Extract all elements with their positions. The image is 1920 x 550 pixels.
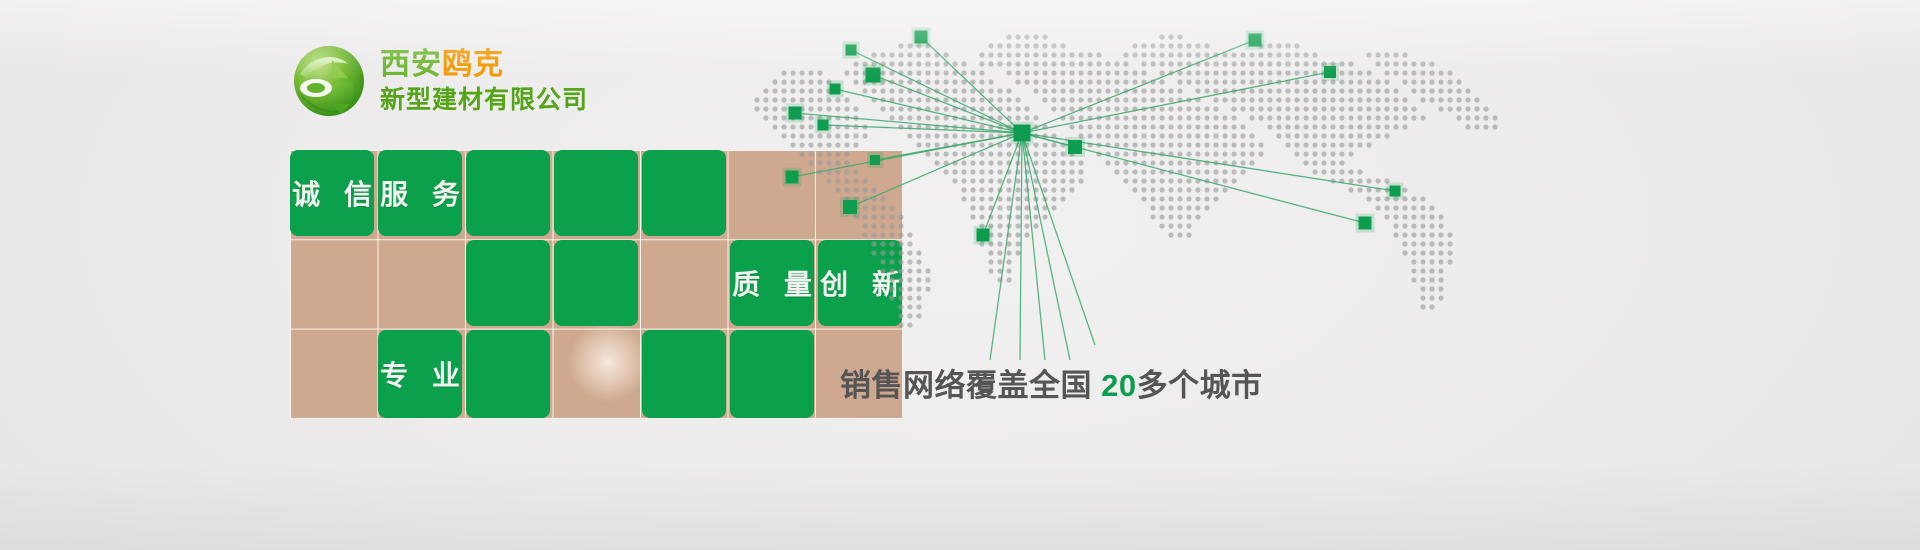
sales-network-tagline: 销售网络覆盖全国 20多个城市 (840, 360, 1263, 405)
tile-label: 专 业 (372, 354, 468, 394)
tile-blank-r3c5 (642, 330, 726, 418)
tile-blank-r1c5 (642, 150, 726, 236)
tile-blank-r1c3 (466, 150, 550, 236)
globe-leaf-logo-icon (292, 44, 366, 118)
logo-brand: 鸥克 (442, 48, 504, 81)
tagline-highlight: 20 (1101, 368, 1136, 403)
hero-banner: 西安鸥克 新型建材有限公司 诚 信 服 务 质 量 创 新 专 业 (0, 0, 1920, 550)
tile-blank-r1c4 (554, 150, 638, 236)
logo-text-block: 西安鸥克 新型建材有限公司 (380, 50, 588, 113)
tagline-prefix: 销售网络覆盖全国 (840, 368, 1092, 403)
logo-subtitle: 新型建材有限公司 (380, 88, 588, 113)
tile-label: 服 务 (372, 173, 468, 213)
logo-city: 西安 (380, 48, 442, 81)
tile-blank-r2c3 (466, 240, 550, 326)
tile-blank-r2c4 (554, 240, 638, 326)
company-logo[interactable]: 西安鸥克 新型建材有限公司 (292, 44, 588, 118)
tile-label: 诚 信 (284, 173, 380, 213)
logo-title: 西安鸥克 (380, 50, 588, 80)
tile-integrity: 诚 信 (290, 150, 374, 236)
world-dot-map (735, 15, 1545, 360)
tile-blank-r3c3 (466, 330, 550, 418)
tile-professional: 专 业 (378, 330, 462, 418)
tile-service: 服 务 (378, 150, 462, 236)
tagline-suffix: 多个城市 (1137, 368, 1263, 403)
